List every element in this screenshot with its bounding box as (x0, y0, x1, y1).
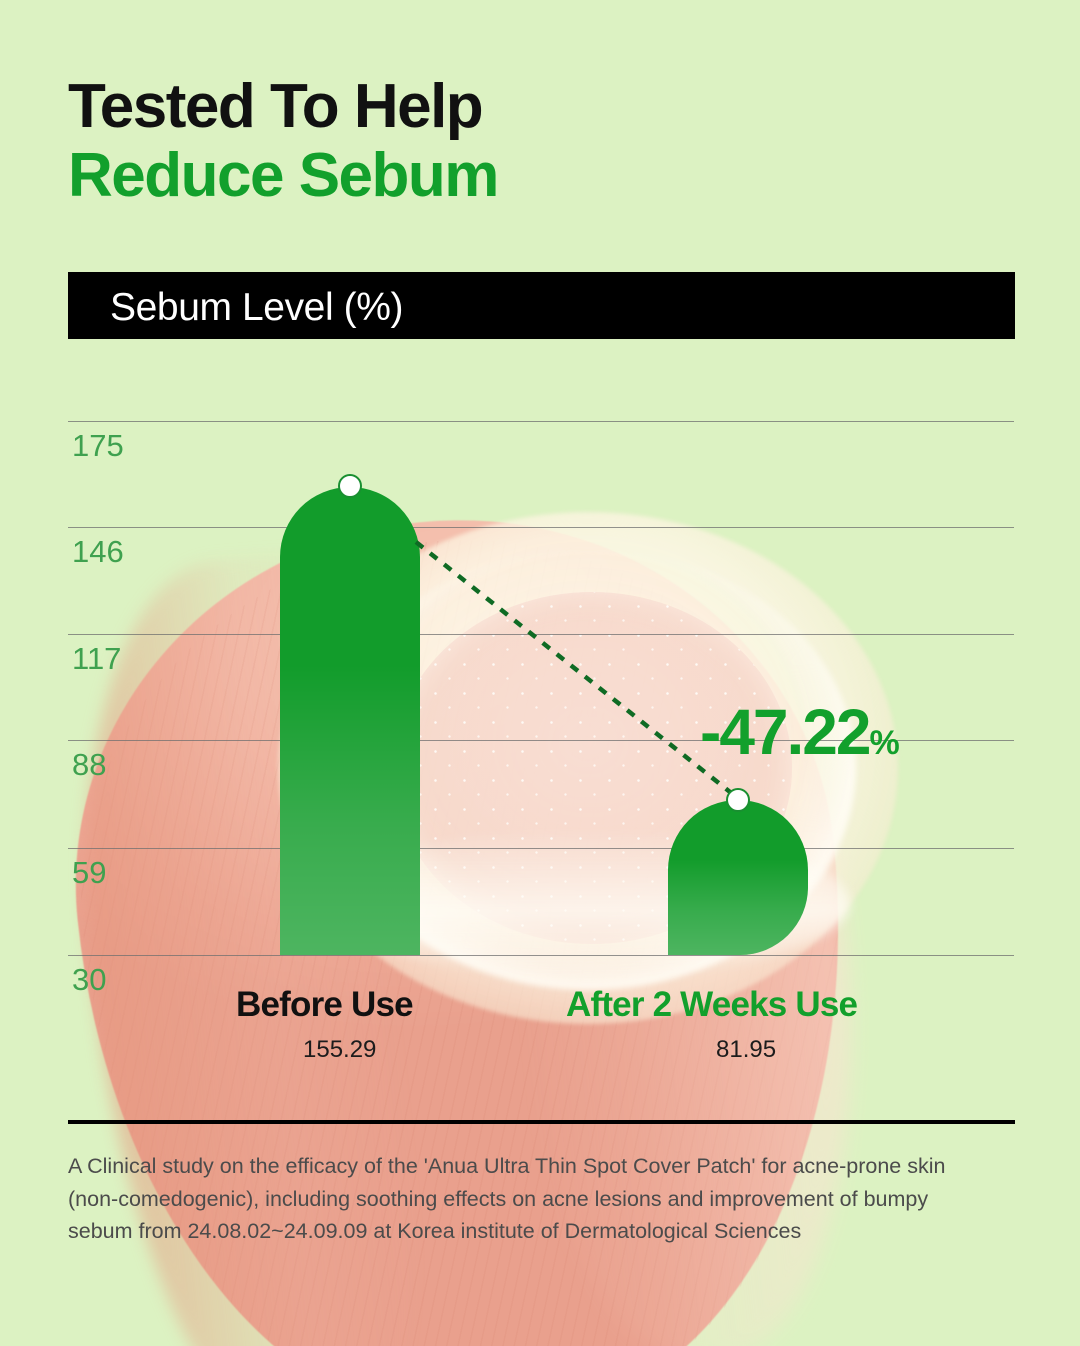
data-point-dot-before (338, 474, 362, 498)
gridline-175 (68, 421, 1014, 422)
change-annotation: -47.22% (700, 700, 899, 764)
bar-gloss (668, 800, 808, 955)
change-value: -47.22 (700, 696, 869, 768)
gridline-146 (68, 527, 1014, 528)
value-label-before: 155.29 (303, 1036, 376, 1064)
chart-plot-area: 175 146 117 88 59 30 -47.22% Before Use … (0, 0, 1080, 1346)
gridline-117 (68, 634, 1014, 635)
change-unit: % (869, 724, 898, 762)
value-label-after: 81.95 (716, 1036, 776, 1064)
bar-gloss (280, 487, 420, 955)
gridline-30 (68, 955, 1014, 956)
bar-after-2-weeks-use (668, 800, 808, 955)
y-axis-tick-5: 30 (72, 962, 106, 998)
connector-dotted-line (0, 0, 1080, 1346)
footnote-divider (68, 1120, 1015, 1124)
bar-before-use (280, 487, 420, 955)
infographic-page: Tested To Help Reduce Sebum Sebum Level … (0, 0, 1080, 1346)
y-axis-tick-4: 59 (72, 855, 106, 891)
y-axis-tick-1: 146 (72, 534, 124, 570)
data-point-dot-after (726, 788, 750, 812)
y-axis-tick-3: 88 (72, 747, 106, 783)
x-axis-label-before: Before Use (236, 985, 413, 1025)
footnote-text: A Clinical study on the efficacy of the … (68, 1150, 998, 1248)
gridline-59 (68, 848, 1014, 849)
x-axis-label-after: After 2 Weeks Use (566, 985, 857, 1025)
y-axis-tick-0: 175 (72, 428, 124, 464)
y-axis-tick-2: 117 (72, 641, 121, 677)
